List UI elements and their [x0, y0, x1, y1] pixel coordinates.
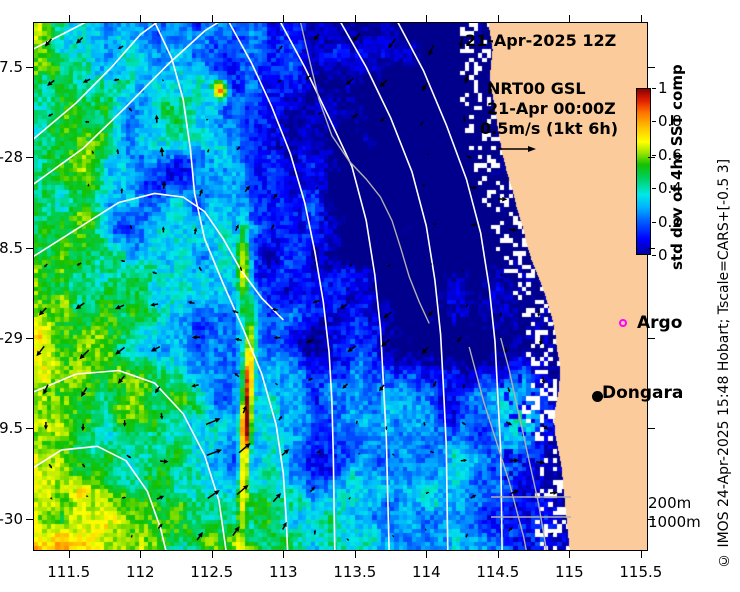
vector-key-arrow [497, 144, 537, 154]
contour-line [501, 338, 547, 551]
y-tick-left [26, 248, 33, 249]
x-tick-top [426, 15, 427, 22]
contour-line [33, 22, 86, 49]
y-axis-label: -30 [0, 510, 23, 528]
current-vector-field [36, 34, 557, 541]
argo-legend-label: Argo [637, 313, 682, 333]
x-tick-top [212, 15, 213, 22]
dongara-label: Dongara [602, 383, 683, 403]
colorbar-tick [652, 155, 656, 156]
y-axis-label: -29.5 [0, 419, 23, 437]
y-tick-right [648, 428, 655, 429]
y-tick-right [648, 157, 655, 158]
colorbar-tick-label: 0 [658, 246, 668, 264]
x-axis-label: 115 [534, 563, 604, 581]
colorbar-tick-label: 0.8 [658, 112, 682, 130]
y-axis-label: -28.5 [0, 239, 23, 257]
y-tick-right [648, 519, 655, 520]
x-tick-top [641, 15, 642, 22]
credit-text: © IMOS 24-Apr-2025 15:48 Hobart; Tscale=… [716, 148, 732, 568]
x-tick-top [355, 15, 356, 22]
y-tick-right [648, 248, 655, 249]
y-tick-left [26, 519, 33, 520]
date-stamp: 21-Apr-2025 12Z [465, 31, 616, 50]
colorbar [636, 88, 651, 255]
x-axis-label: 112 [105, 563, 175, 581]
y-tick-left [26, 157, 33, 158]
colorbar-tick-label: 0.6 [658, 146, 682, 164]
x-axis-label: 115.5 [606, 563, 676, 581]
source-label-time: 21-Apr 00:00Z [487, 99, 616, 118]
contour-line [33, 194, 283, 320]
depth-label-200m: 200m [648, 494, 691, 512]
x-tick-top [569, 15, 570, 22]
contour-line [280, 22, 389, 551]
sst-map-figure: 21-Apr-2025 12Z NRT00 GSL 21-Apr 00:00Z … [0, 0, 740, 592]
y-tick-left [26, 428, 33, 429]
x-tick-top [69, 15, 70, 22]
y-axis-label: -27.5 [0, 58, 23, 76]
colorbar-tick [652, 255, 656, 256]
y-axis-label: -28 [0, 148, 23, 166]
colorbar-tick [652, 222, 656, 223]
y-tick-right [648, 338, 655, 339]
x-tick-bottom [283, 551, 284, 558]
x-axis-label: 113.5 [320, 563, 390, 581]
vector-scale-label: 0.5m/s (1kt 6h) [480, 119, 618, 138]
x-tick-bottom [641, 551, 642, 558]
contour-line [469, 347, 526, 551]
colorbar-tick-label: 0.2 [658, 213, 682, 231]
depth-label-1000m: 1000m [648, 513, 701, 531]
x-tick-bottom [212, 551, 213, 558]
y-axis-label: -29 [0, 329, 23, 347]
contour-line [33, 446, 166, 551]
x-tick-bottom [426, 551, 427, 558]
y-tick-right [648, 67, 655, 68]
x-axis-label: 112.5 [177, 563, 247, 581]
contour-line [341, 22, 448, 551]
x-tick-bottom [140, 551, 141, 558]
argo-marker-icon [619, 319, 627, 327]
x-axis-label: 111.5 [34, 563, 104, 581]
x-tick-top [498, 15, 499, 22]
contour-line [155, 22, 288, 551]
x-tick-bottom [69, 551, 70, 558]
colorbar-tick [652, 121, 656, 122]
x-tick-bottom [355, 551, 356, 558]
source-label-product: NRT00 GSL [487, 79, 586, 98]
x-axis-label: 114.5 [463, 563, 533, 581]
x-axis-label: 114 [391, 563, 461, 581]
contour-line [33, 371, 226, 552]
y-tick-left [26, 338, 33, 339]
colorbar-tick [652, 188, 656, 189]
colorbar-tick-label: 1 [658, 79, 668, 97]
y-tick-left [26, 67, 33, 68]
x-tick-top [283, 15, 284, 22]
x-tick-bottom [569, 551, 570, 558]
x-axis-label: 113 [248, 563, 318, 581]
colorbar-tick [652, 88, 656, 89]
colorbar-tick-label: 0.4 [658, 179, 682, 197]
x-tick-top [140, 15, 141, 22]
x-tick-bottom [498, 551, 499, 558]
